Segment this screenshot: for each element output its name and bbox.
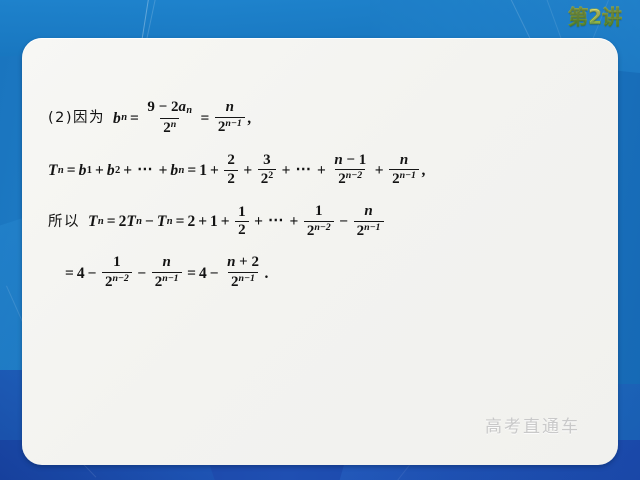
line2-T: T (48, 163, 57, 179)
line3-T-2: T (126, 214, 135, 230)
line3-ellipsis: ⋯ (266, 213, 287, 229)
line4-frac3-denominator: 2n−1 (228, 272, 258, 291)
math-line-1: (2)因为 bn = 9 − 2an 2n = n 2n−1 , (48, 100, 598, 137)
line3-frac1-numerator: 1 (235, 205, 249, 222)
line3-rhs-two: 2 (187, 214, 195, 230)
line2-plus-8: + (372, 163, 387, 179)
line4-frac3-numerator: n + 2 (224, 255, 262, 272)
line1-equals-1: = (127, 111, 142, 127)
line4-four: 4 (77, 266, 85, 282)
line3-plus-1: + (195, 214, 210, 230)
line3-frac1-denominator: 2 (235, 221, 249, 239)
line2-frac1-numerator: 2 (224, 153, 238, 170)
line2-equals-2: = (184, 163, 199, 179)
line3-equals-2: = (173, 214, 188, 230)
line4-fraction-1: 1 2n−2 (102, 255, 132, 290)
line2-b1: b (79, 163, 87, 179)
math-line-4: = 4 − 1 2n−2 − n 2n−1 = 4 − n + 2 2n−1 (48, 256, 598, 291)
line2-comma: , (421, 163, 425, 179)
line1-frac1-numerator: 9 − 2an (144, 100, 195, 118)
line2-frac4-denominator: 2n−1 (389, 169, 419, 188)
line4-equals-1: = (62, 266, 77, 282)
line4-minus-3: − (207, 266, 222, 282)
line2-plus-3: + (156, 163, 171, 179)
line3-frac3-denominator: 2n−1 (354, 221, 384, 240)
line2-plus-7: + (314, 163, 329, 179)
line4-frac2-denominator: 2n−1 (152, 272, 182, 291)
watermark-text: 高考直通车 (485, 412, 580, 437)
line3-T-lhs: T (88, 214, 97, 230)
line4-frac1-denominator: 2n−2 (102, 272, 132, 291)
line3-fraction-1: 1 2 (235, 205, 249, 239)
line3-equals-1: = (104, 214, 119, 230)
line2-fraction-1: 2 2 (224, 153, 238, 187)
line4-frac1-numerator: 1 (110, 255, 124, 272)
line2-plus-6: + (279, 163, 294, 179)
line2-ellipsis-1: ⋯ (135, 162, 156, 178)
line2-ellipsis-2: ⋯ (293, 162, 314, 178)
line4-minus-1: − (85, 266, 100, 282)
line3-T-3: T (157, 214, 166, 230)
line3-one: 1 (210, 214, 218, 230)
line2-frac2-denominator: 22 (258, 169, 276, 188)
line2-frac4-numerator: n (397, 153, 411, 170)
line3-frac2-numerator: 1 (312, 204, 326, 221)
line3-coefficient-two: 2 (119, 214, 127, 230)
line4-period: . (264, 266, 268, 282)
line2-equals-1: = (64, 163, 79, 179)
line1-comma: , (247, 111, 251, 127)
line1-frac2-numerator: n (223, 100, 237, 117)
line1-variable: b (113, 111, 121, 127)
line3-minus-1: − (142, 214, 157, 230)
line3-plus-2: + (218, 214, 233, 230)
line3-prefix: 所以 (48, 215, 80, 230)
line2-fraction-3: n − 1 2n−2 (331, 153, 369, 188)
line3-plus-4: + (286, 214, 301, 230)
line1-prefix: (2)因为 (48, 111, 105, 126)
math-solution-block: (2)因为 bn = 9 − 2an 2n = n 2n−1 , Tn = (48, 100, 598, 304)
line2-fraction-4: n 2n−1 (389, 153, 419, 188)
line3-fraction-2: 1 2n−2 (304, 204, 334, 239)
line3-minus-2: − (336, 214, 351, 230)
line4-minus-2: − (134, 266, 149, 282)
line2-plus-4: + (207, 163, 222, 179)
math-line-2: Tn = b1 + b2 + ⋯ + bn = 1 + 2 2 + 3 2 (48, 153, 598, 188)
line4-four-2: 4 (199, 266, 207, 282)
line2-plus-1: + (92, 163, 107, 179)
line1-equals-2: = (198, 111, 213, 127)
line1-frac1-denominator: 2n (160, 118, 179, 137)
math-line-3: 所以 Tn = 2Tn − Tn = 2 + 1 + 1 2 + ⋯ + (48, 205, 598, 240)
line4-equals-2: = (184, 266, 199, 282)
line2-plus-2: + (120, 163, 135, 179)
line4-fraction-3: n + 2 2n−1 (224, 255, 262, 290)
line3-plus-3: + (251, 214, 266, 230)
line2-one: 1 (199, 163, 207, 179)
line4-frac2-numerator: n (159, 255, 173, 272)
line2-fraction-2: 3 22 (258, 153, 276, 188)
line1-fraction-2: n 2n−1 (215, 100, 245, 135)
line2-frac2-numerator: 3 (260, 153, 274, 170)
line2-frac3-numerator: n − 1 (331, 153, 369, 170)
slide-canvas: 第2讲 (2)因为 bn = 9 − 2an 2n = n 2n−1 , (0, 0, 640, 480)
lesson-title: 第2讲 (568, 3, 622, 31)
line1-frac2-denominator: 2n−1 (215, 117, 245, 136)
line3-fraction-3: n 2n−1 (354, 204, 384, 239)
content-panel: (2)因为 bn = 9 − 2an 2n = n 2n−1 , Tn = (22, 38, 618, 465)
line2-frac1-denominator: 2 (224, 170, 238, 188)
line2-frac3-denominator: 2n−2 (335, 169, 365, 188)
line1-fraction-1: 9 − 2an 2n (144, 100, 195, 137)
line3-frac2-denominator: 2n−2 (304, 221, 334, 240)
line3-frac3-numerator: n (361, 204, 375, 221)
line2-plus-5: + (240, 163, 255, 179)
line2-b2: b (107, 163, 115, 179)
line4-fraction-2: n 2n−1 (152, 255, 182, 290)
line2-bn: b (170, 163, 178, 179)
